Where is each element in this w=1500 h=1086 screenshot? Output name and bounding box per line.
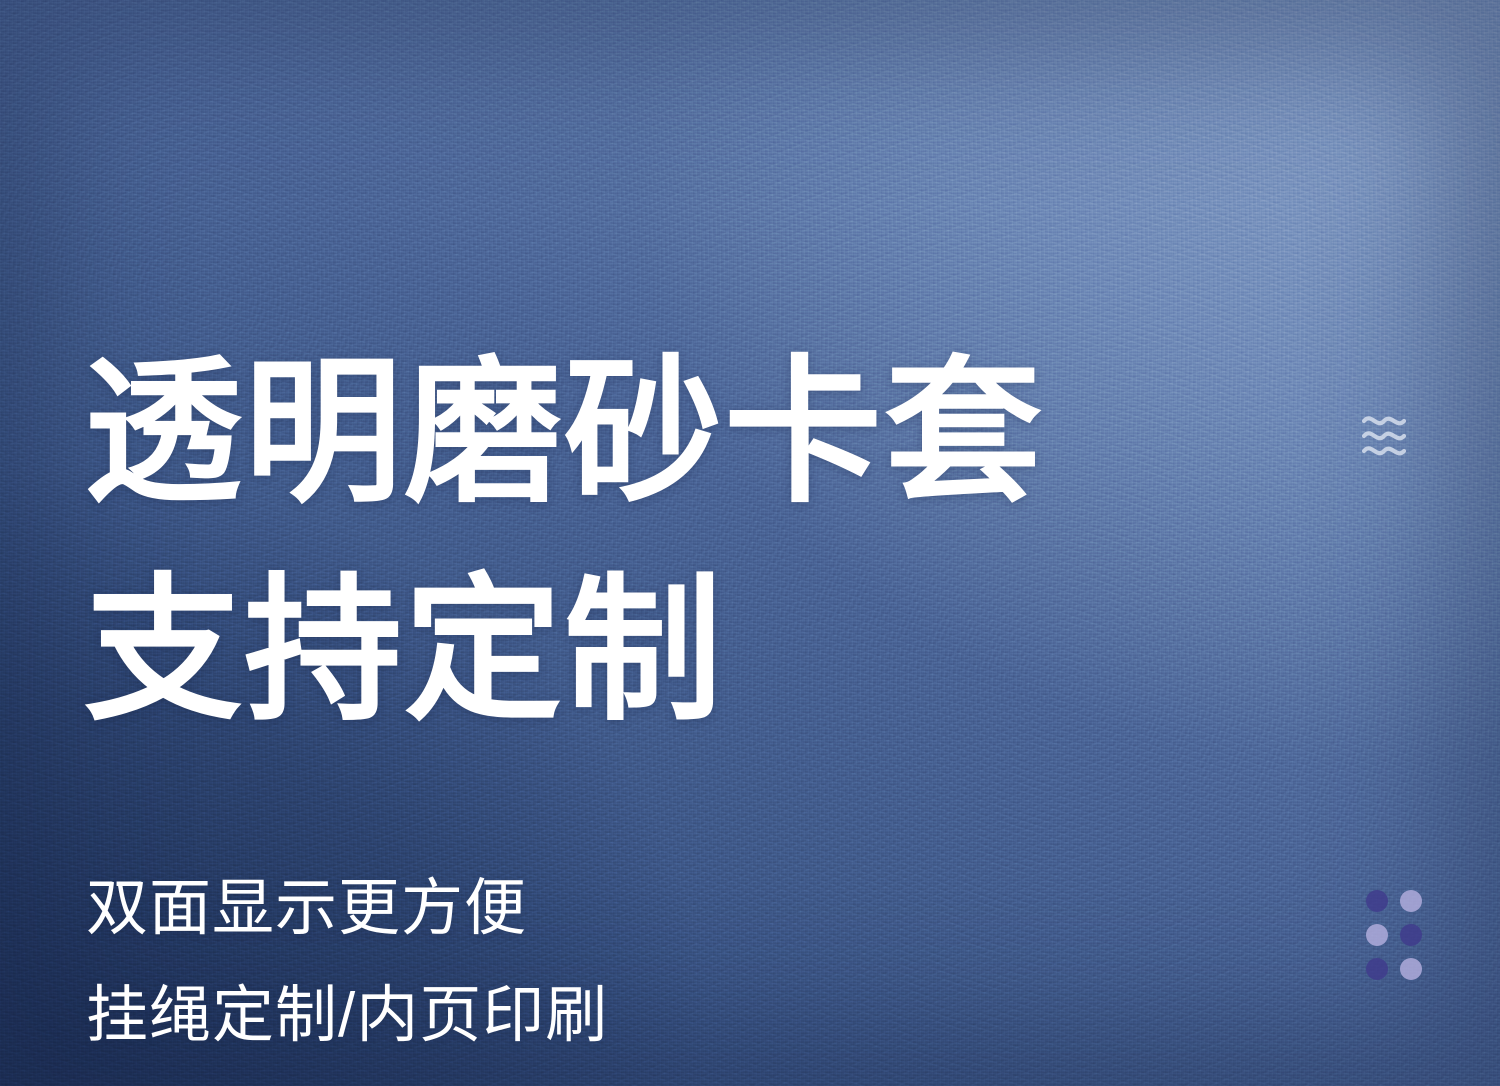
page-title: 透明磨砂卡套 支持定制 [84,324,1044,760]
promo-poster: 透明磨砂卡套 支持定制 双面显示更方便 挂绳定制/内页印刷 [0,0,1500,1086]
headline-line-1: 透明磨砂卡套 [84,324,1044,542]
subtitle-line-2: 挂绳定制/内页印刷 [86,963,608,1070]
subtitle-line-1: 双面显示更方便 [86,856,608,963]
headline-line-2: 支持定制 [84,542,1044,760]
page-subtitle: 双面显示更方便 挂绳定制/内页印刷 [86,856,608,1069]
poster-content: 透明磨砂卡套 支持定制 双面显示更方便 挂绳定制/内页印刷 [0,0,1500,1086]
